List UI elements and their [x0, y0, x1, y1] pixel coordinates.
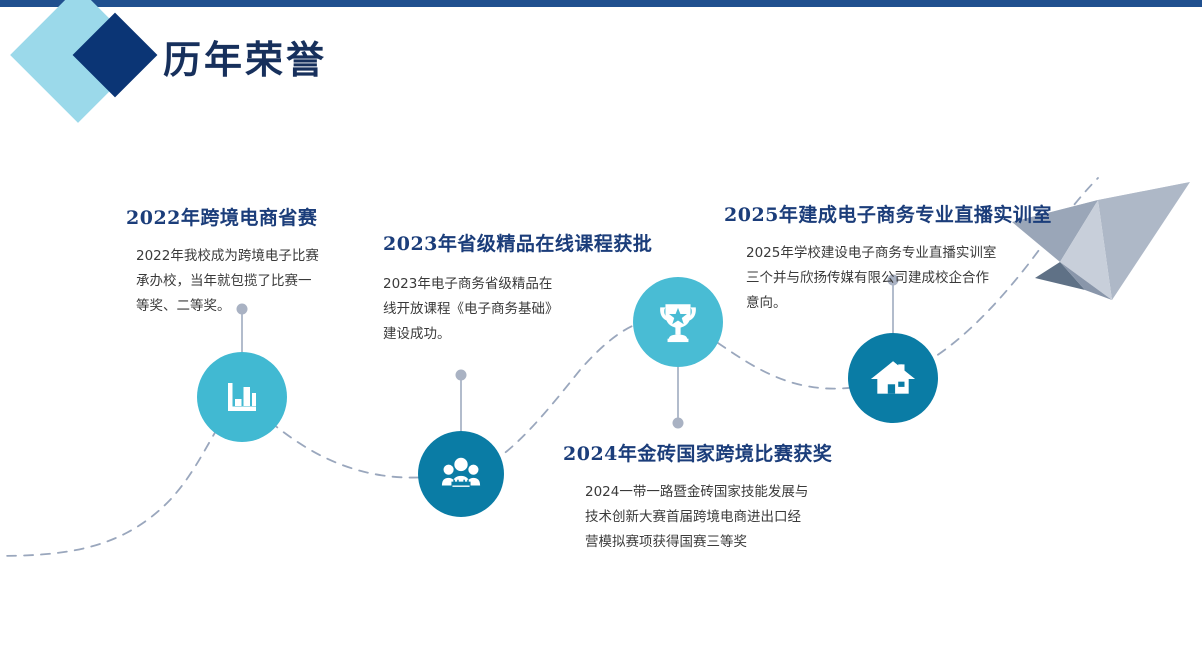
milestone-card-3: 2024年金砖国家跨境比赛获奖 2024一带一路暨金砖国家技能发展与 技术创新大… — [563, 439, 832, 555]
dot-node-3 — [673, 418, 684, 429]
bar-chart-icon — [220, 375, 264, 419]
milestone-heading-4: 2025年建成电子商务专业直播实训室 — [724, 200, 1052, 227]
body-line: 承办校，当年就包揽了比赛一 — [136, 269, 319, 294]
milestone-node-1[interactable] — [197, 352, 287, 442]
milestone-card-2: 2023年省级精品在线课程获批 2023年电子商务省级精品在 线开放课程《电子商… — [383, 229, 652, 347]
body-line: 建设成功。 — [383, 322, 652, 347]
milestone-node-2[interactable] — [418, 431, 504, 517]
milestone-heading-2: 2023年省级精品在线课程获批 — [383, 229, 652, 256]
body-line: 线开放课程《电子商务基础》 — [383, 297, 652, 322]
body-line: 营模拟赛项获得国赛三等奖 — [585, 530, 832, 555]
top-accent-bar — [0, 0, 1202, 7]
house-icon — [870, 355, 916, 401]
milestone-node-4[interactable] — [848, 333, 938, 423]
milestone-body-4: 2025年学校建设电子商务专业直播实训室 三个并与欣扬传媒有限公司建成校企合作 … — [724, 241, 1052, 316]
milestone-body-3: 2024一带一路暨金砖国家技能发展与 技术创新大赛首届跨境电商进出口经 营模拟赛… — [563, 480, 832, 555]
body-line: 2025年学校建设电子商务专业直播实训室 — [746, 241, 1052, 266]
body-line: 2022年我校成为跨境电子比赛 — [136, 244, 319, 269]
milestone-body-2: 2023年电子商务省级精品在 线开放课程《电子商务基础》 建设成功。 — [383, 272, 652, 347]
milestone-heading-3: 2024年金砖国家跨境比赛获奖 — [563, 439, 832, 466]
dot-node-2 — [456, 370, 467, 381]
body-line: 技术创新大赛首届跨境电商进出口经 — [585, 505, 832, 530]
milestone-heading-1: 2022年跨境电商省赛 — [126, 203, 319, 230]
body-line: 等奖、二等奖。 — [136, 294, 319, 319]
trophy-icon — [655, 299, 701, 345]
body-line: 2024一带一路暨金砖国家技能发展与 — [585, 480, 832, 505]
people-group-icon — [440, 453, 482, 495]
milestone-card-4: 2025年建成电子商务专业直播实训室 2025年学校建设电子商务专业直播实训室 … — [724, 200, 1052, 316]
milestone-body-1: 2022年我校成为跨境电子比赛 承办校，当年就包揽了比赛一 等奖、二等奖。 — [126, 244, 319, 319]
page-title: 历年荣誉 — [163, 29, 327, 84]
body-line: 意向。 — [746, 291, 1052, 316]
body-line: 2023年电子商务省级精品在 — [383, 272, 652, 297]
milestone-card-1: 2022年跨境电商省赛 2022年我校成为跨境电子比赛 承办校，当年就包揽了比赛… — [126, 203, 319, 319]
body-line: 三个并与欣扬传媒有限公司建成校企合作 — [746, 266, 1052, 291]
slide-canvas: 历年荣誉 — [0, 0, 1202, 668]
